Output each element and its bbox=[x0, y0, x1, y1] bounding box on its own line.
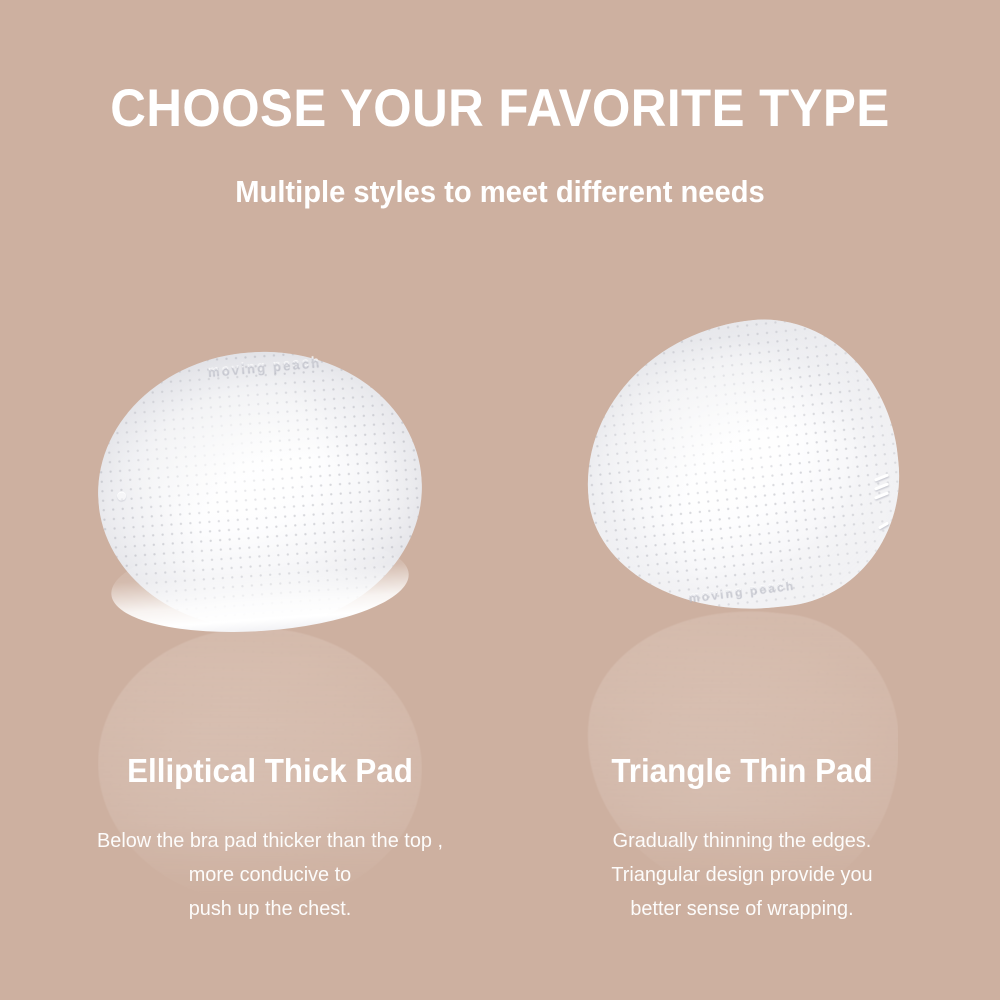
product-description-elliptical: Below the bra pad thicker than the top ,… bbox=[47, 824, 493, 926]
product-heading-triangle: Triangle Thin Pad bbox=[524, 752, 961, 790]
product-image-elliptical-thick-pad: moving peach bbox=[98, 352, 422, 628]
description-line: push up the chest. bbox=[47, 892, 493, 926]
product-caption-triangle: Triangle Thin Pad Gradually thinning the… bbox=[512, 752, 972, 926]
description-line: better sense of wrapping. bbox=[519, 892, 965, 926]
description-line: more conducive to bbox=[47, 858, 493, 892]
description-line: Below the bra pad thicker than the top , bbox=[47, 824, 493, 858]
product-heading-elliptical: Elliptical Thick Pad bbox=[52, 752, 489, 790]
description-line: Triangular design provide you bbox=[519, 858, 965, 892]
pad-shading bbox=[89, 341, 431, 639]
page-subtitle: Multiple styles to meet different needs bbox=[30, 174, 970, 210]
product-description-triangle: Gradually thinning the edges. Triangular… bbox=[519, 824, 965, 926]
infographic-canvas: CHOOSE YOUR FAVORITE TYPE Multiple style… bbox=[0, 0, 1000, 1000]
caption-columns: Elliptical Thick Pad Below the bra pad t… bbox=[0, 752, 1000, 982]
description-line: Gradually thinning the edges. bbox=[519, 824, 965, 858]
page-title: CHOOSE YOUR FAVORITE TYPE bbox=[35, 78, 965, 139]
product-image-triangle-thin-pad: moving peach bbox=[586, 322, 898, 610]
product-caption-elliptical: Elliptical Thick Pad Below the bra pad t… bbox=[40, 752, 500, 926]
pad-shading bbox=[572, 306, 912, 625]
product-stage: moving peach moving peach bbox=[0, 300, 1000, 730]
pad-surface-elliptical bbox=[89, 341, 431, 639]
pad-surface-triangle bbox=[572, 306, 912, 625]
